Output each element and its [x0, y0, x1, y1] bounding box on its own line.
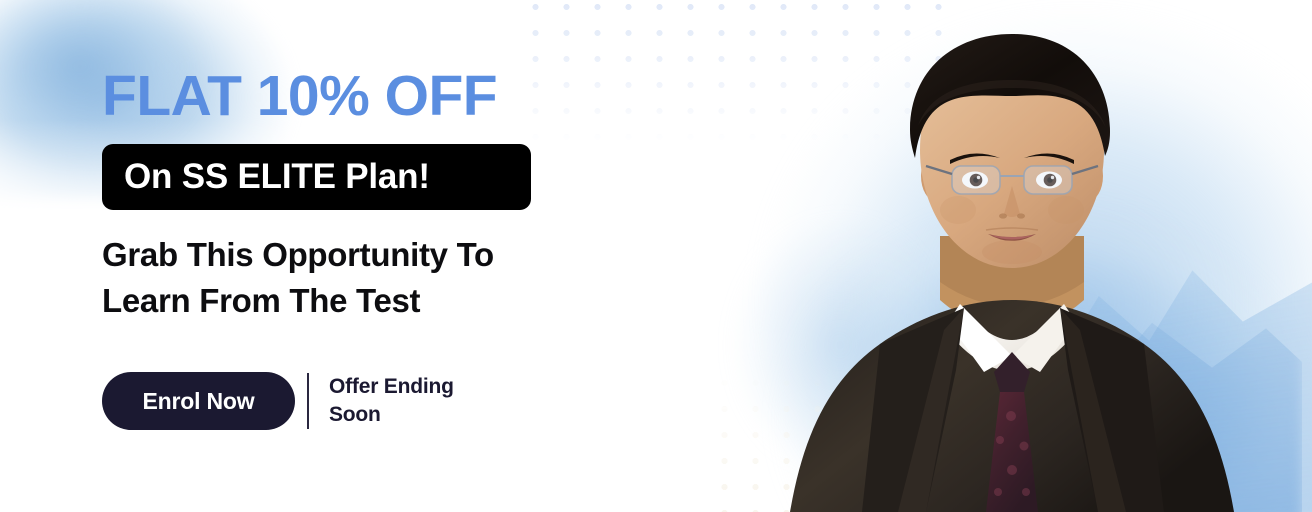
mountain-ridge-shape-front [1002, 250, 1302, 512]
plan-badge: On SS ELITE Plan! [102, 144, 531, 210]
promo-banner: FLAT 10% OFF On SS ELITE Plan! Grab This… [0, 0, 1312, 512]
enrol-now-button[interactable]: Enrol Now [102, 372, 295, 430]
subheading-line-1: Grab This Opportunity To [102, 232, 642, 278]
watercolor-wash-right [682, 0, 1312, 512]
subheading: Grab This Opportunity To Learn From The … [102, 232, 642, 324]
offer-ending-note: Offer Ending Soon [329, 373, 499, 429]
watercolor-wash-right-lower [752, 212, 1312, 512]
cta-divider [307, 373, 309, 429]
watercolor-wash-middle [700, 180, 980, 510]
plan-badge-label: On SS ELITE Plan! [102, 157, 430, 197]
presenter-portrait [712, 0, 1312, 512]
offer-note-line-1: Offer Ending [329, 373, 499, 401]
mountain-ridge-shape-back [962, 200, 1312, 512]
glasses-shape [926, 166, 1098, 194]
banner-content: FLAT 10% OFF On SS ELITE Plan! Grab This… [102, 0, 722, 512]
subheading-line-2: Learn From The Test [102, 278, 642, 324]
offer-note-line-2: Soon [329, 401, 499, 429]
cta-row: Enrol Now Offer Ending Soon [102, 372, 499, 430]
page-title: FLAT 10% OFF [102, 66, 497, 126]
